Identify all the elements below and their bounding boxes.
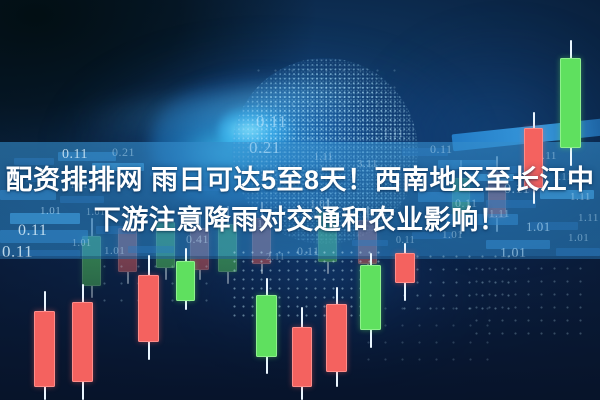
candlestick-body bbox=[72, 302, 93, 382]
candlestick-body bbox=[176, 261, 195, 301]
candlestick-body bbox=[292, 327, 312, 387]
candlestick-body bbox=[560, 58, 581, 148]
candlestick-body bbox=[395, 253, 415, 283]
banner-image: 0.110.211.111.113.110.111.011.011.011.01… bbox=[0, 0, 600, 400]
candlestick-body bbox=[326, 304, 347, 372]
candlestick-body bbox=[34, 311, 55, 387]
candlestick-body bbox=[256, 295, 277, 357]
headline-text: 配资排排网 雨日可达5至8天！西南地区至长江中 下游注意降雨对交通和农业影响！ bbox=[0, 160, 600, 240]
headline-line-1: 配资排排网 雨日可达5至8天！西南地区至长江中 bbox=[0, 160, 600, 200]
candlestick-body bbox=[360, 265, 381, 330]
headline-line-2: 下游注意降雨对交通和农业影响！ bbox=[0, 200, 600, 240]
candlestick-body bbox=[138, 275, 159, 342]
